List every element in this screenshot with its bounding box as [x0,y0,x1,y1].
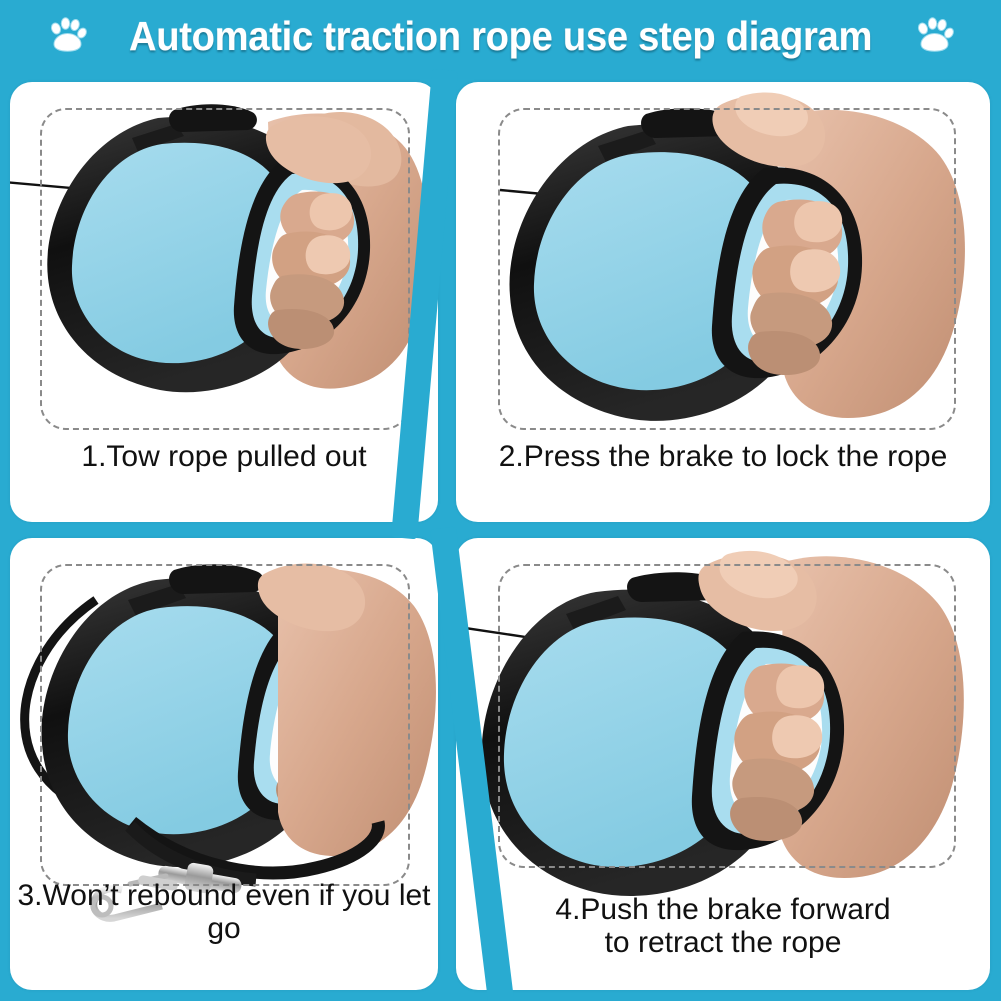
step-panel-1: 1.Tow rope pulled out [10,82,438,522]
step-panel-4: 4.Push the brake forward to retract the … [456,538,990,990]
paw-print-icon [914,17,954,55]
step-panel-3: 3.Won’t rebound even if you let go [10,538,438,990]
step-caption: 4.Push the brake forward to retract the … [456,893,990,960]
step-caption: 2.Press the brake to lock the rope [456,440,990,474]
step-caption: 1.Tow rope pulled out [10,440,438,474]
step-caption: 3.Won’t rebound even if you let go [10,879,438,946]
brake-button [169,564,264,594]
paw-print-icon [47,17,87,55]
step-panel-2: 2.Press the brake to lock the rope [456,82,990,522]
page-title: Automatic traction rope use step diagram [129,13,872,60]
brake-button [169,104,257,132]
step-diagram-poster: Automatic traction rope use step diagram [0,0,1001,1001]
poster-header: Automatic traction rope use step diagram [0,0,1001,72]
